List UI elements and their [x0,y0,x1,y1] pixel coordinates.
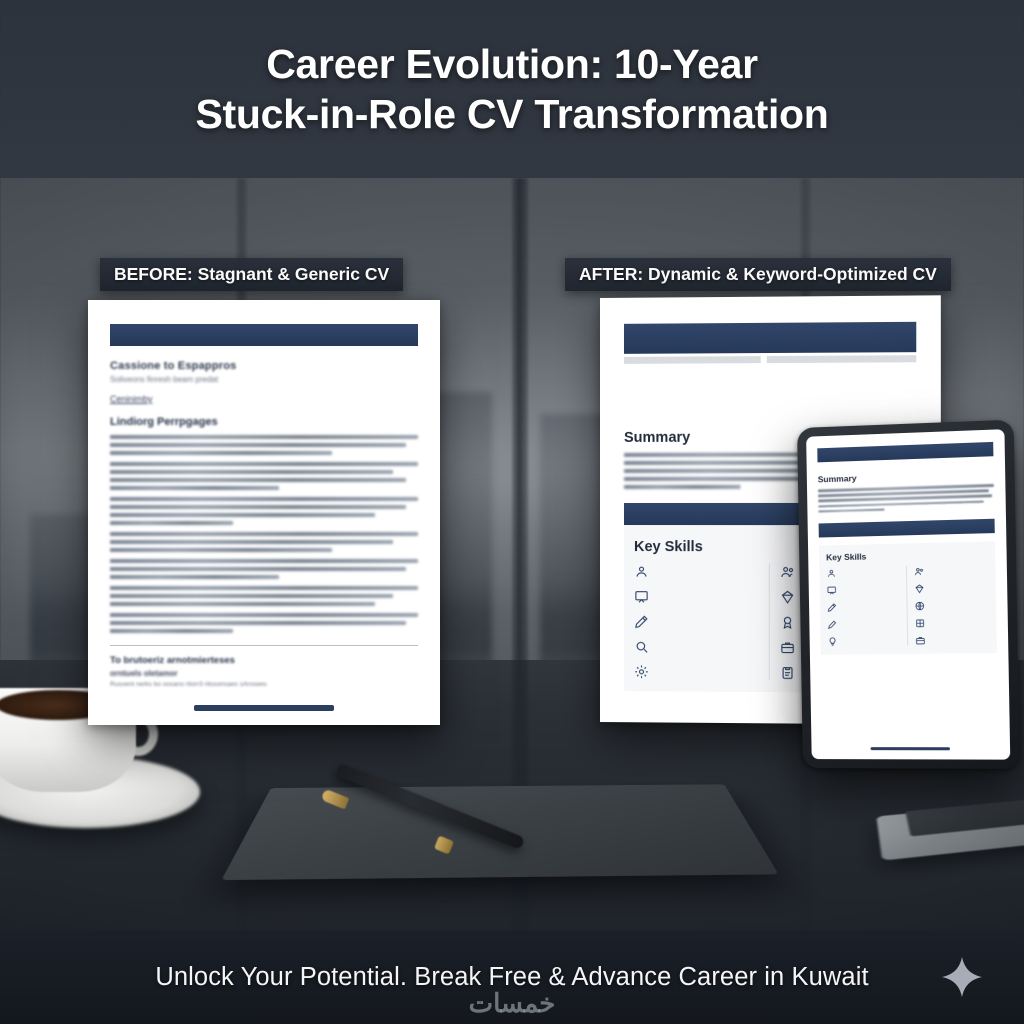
tablet-skill-item [914,582,988,595]
skills-column-divider [769,563,770,680]
tablet-skill-item [914,564,988,577]
tablet-skills-band [819,519,995,538]
tablet-doc-header-bar [817,442,993,462]
tablet-skill-item [915,617,989,629]
award-icon [780,615,795,630]
tablet-skill-item [915,634,989,646]
before-doc-paragraph [110,586,418,606]
tablet-skills-column-right [914,564,989,646]
window-grid-icon [915,618,925,628]
tablet-doc-accent-bar [870,747,949,751]
before-doc-link: Ceninimby [110,394,418,404]
gear-icon [634,664,649,679]
skill-item [634,588,759,604]
presentation-icon [634,589,649,604]
pencil-icon [634,614,649,629]
diamond-icon [914,584,924,594]
pen-nib-icon [827,620,837,630]
skill-item [634,613,759,630]
before-doc-name: Cassione to Espappros [110,360,418,372]
after-doc-header-bar [624,322,916,354]
watermark: خمسات [469,988,556,1019]
skill-text [656,663,759,664]
before-cv-document: Cassione to Espappros Soliveons finresh … [88,300,440,725]
tablet-skills-heading: Key Skills [826,549,988,563]
tablet-screen[interactable]: Summary Key Skills [806,429,1010,759]
poster-canvas: Career Evolution: 10-Year Stuck-in-Role … [0,0,1024,1024]
before-doc-footer-heading: To brutoeriz arnotmierteses [110,655,418,666]
briefcase-icon [915,636,925,646]
presentation-icon [827,586,837,596]
before-doc-paragraph [110,497,418,525]
tablet-skill-item [826,566,899,579]
tablet-skill-item [827,618,900,630]
before-doc-footer-sub: orntuels oletamor [110,669,418,678]
pencil-icon [827,603,837,613]
before-doc-paragraph [110,559,418,579]
page-title-line-2: Stuck-in-Role CV Transformation [62,89,962,139]
before-doc-paragraph [110,462,418,490]
before-doc-accent-bar [194,705,334,711]
before-doc-subtitle: Soliveons finresh beam predat [110,375,418,384]
person-badge-icon [826,569,836,579]
tablet-skills-box: Key Skills [819,542,997,656]
lightbulb-icon [828,637,838,647]
footer-band: Unlock Your Potential. Break Free & Adva… [0,930,1024,1024]
tablet-skills-column-left [826,566,900,647]
tablet-summary-heading: Summary [818,469,994,485]
people-group-icon [914,567,924,577]
tablet-device[interactable]: Summary Key Skills [797,420,1020,769]
tablet-skill-item [915,599,989,611]
tablet-skills-column-divider [906,566,908,646]
label-before-panel: BEFORE: Stagnant & Generic CV [100,258,403,291]
skills-column-left [634,563,759,680]
before-doc-footer-tiny: Rusoent nerks bo oosano rtiorr3 ritosons… [110,681,418,688]
before-doc-section-heading: Lindiorg Perrpgages [110,416,418,428]
before-doc-header-bar [110,324,418,346]
page-title-line-1: Career Evolution: 10-Year [62,39,962,89]
tablet-skill-item [827,583,900,595]
person-badge-icon [634,564,649,579]
four-point-star-icon [940,955,984,999]
skill-item [634,663,759,680]
page-title: Career Evolution: 10-Year Stuck-in-Role … [62,39,962,139]
clipboard-icon [780,665,795,680]
skill-item [634,563,759,579]
tablet-skill-item [827,601,900,613]
label-after-panel: AFTER: Dynamic & Keyword-Optimized CV [565,258,951,291]
tablet-skills-grid [826,564,989,647]
people-group-icon [780,564,795,579]
before-doc-paragraph [110,532,418,552]
skill-item [634,638,759,655]
tablet-summary-paragraph [818,484,994,513]
diamond-icon [780,590,795,605]
header-band: Career Evolution: 10-Year Stuck-in-Role … [0,0,1024,178]
before-doc-divider [110,645,418,646]
tablet-skill-item [827,635,900,647]
briefcase-icon [780,640,795,655]
footer-tagline: Unlock Your Potential. Break Free & Adva… [155,963,868,992]
before-doc-paragraph [110,435,418,455]
before-doc-paragraph [110,613,418,633]
search-document-icon [634,639,649,654]
globe-icon [915,601,925,611]
